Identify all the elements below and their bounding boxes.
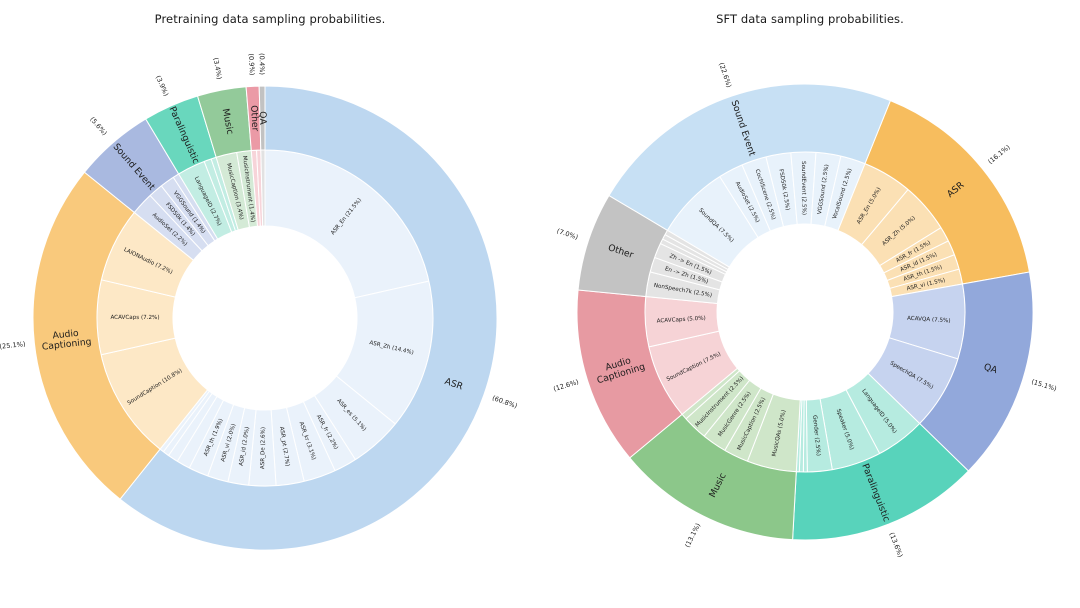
category-percent-label: (22.6%) — [717, 61, 733, 88]
inner-slice-label: SoundEvent (2.5%) — [800, 161, 807, 215]
category-percent-label: (0.9%) — [247, 53, 256, 75]
category-percent-label: (7.0%) — [556, 227, 579, 241]
category-percent-label: (16.1%) — [986, 143, 1011, 166]
category-label-group: QA — [257, 111, 268, 125]
category-percent-label: (5.6%) — [88, 115, 108, 137]
category-label: QA — [257, 111, 268, 125]
pretraining-chart-panel: Pretraining data sampling probabilities.… — [0, 0, 540, 608]
inner-slice-label: ACAVCaps (7.2%) — [110, 315, 159, 321]
sft-sunburst: ASR_En (5.0%)ASR_Zh (5.0%)ASR_fr (1.5%)A… — [540, 0, 1080, 608]
category-percent-label: (12.6%) — [552, 378, 579, 393]
category-percent-label: (3.4%) — [211, 57, 223, 80]
category-percent-label: (13.6%) — [887, 531, 904, 558]
category-percent-label: (25.1%) — [0, 340, 26, 351]
category-percent-label: (15.1%) — [1030, 378, 1057, 393]
sunburst-figure: Pretraining data sampling probabilities.… — [0, 0, 1080, 608]
pretraining-sunburst: ASR_En (21.5%)ASR_Zh (14.4%)ASR_es (5.1%… — [0, 0, 540, 608]
category-percent-label: (13.1%) — [683, 522, 702, 549]
category-percent-label: (0.4%) — [258, 53, 266, 75]
inner-slice-label: ASR_De (2.6%) — [260, 427, 267, 469]
category-percent-label: (60.8%) — [491, 394, 518, 410]
sft-chart-panel: SFT data sampling probabilities. ASR_En … — [540, 0, 1080, 608]
category-percent-label: (3.9%) — [154, 74, 170, 97]
